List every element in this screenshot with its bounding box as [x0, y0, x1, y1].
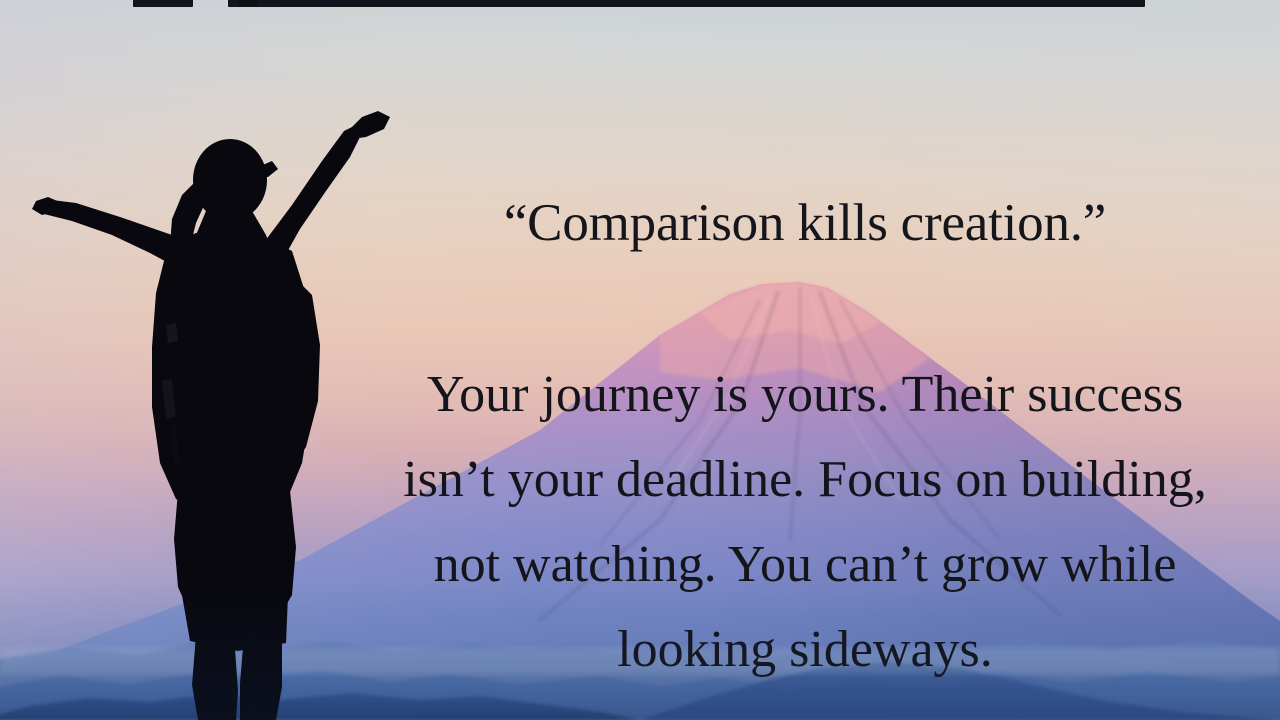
hiker-silhouette — [0, 95, 420, 720]
quote-body: Your journey is yours. Their success isn… — [378, 352, 1232, 692]
quote-text-block: “Comparison kills creation.” Your journe… — [390, 0, 1220, 720]
hiker-svg — [0, 95, 420, 720]
quote-headline: “Comparison kills creation.” — [390, 196, 1220, 252]
quote-graphic: “Comparison kills creation.” Your journe… — [0, 0, 1280, 720]
